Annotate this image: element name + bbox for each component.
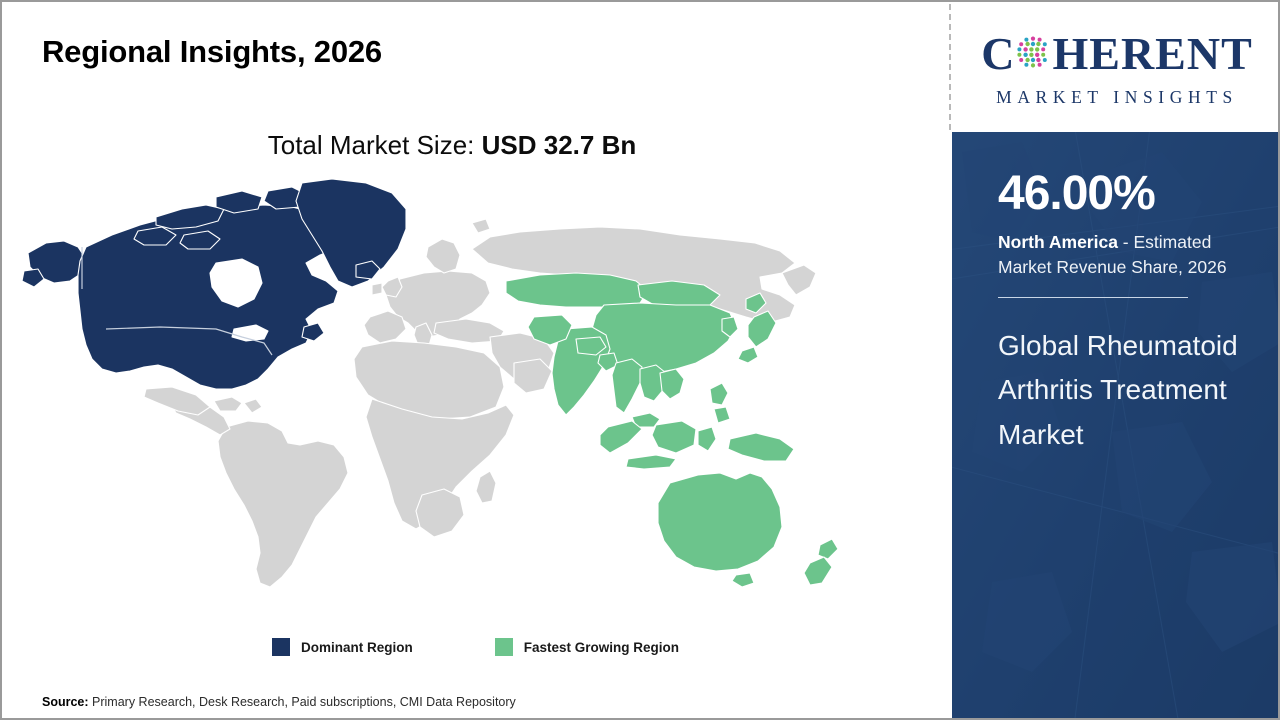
vertical-dashed-divider [949, 4, 951, 130]
logo-letters-herent: HERENT [1052, 31, 1252, 77]
map-region-north-america [22, 179, 406, 389]
total-market-size: Total Market Size: USD 32.7 Bn [2, 130, 902, 161]
total-market-size-label: Total Market Size: [268, 130, 475, 160]
legend-swatch-dominant [272, 638, 290, 656]
world-map [20, 177, 920, 617]
stat-percentage: 46.00% [998, 170, 1248, 218]
regional-insights-infographic: Regional Insights, 2026 Total Market Siz… [0, 0, 1280, 720]
logo-dot-sphere-icon [1015, 34, 1051, 70]
logo-subtitle: MARKET INSIGHTS [996, 87, 1238, 108]
logo-letter-c: C [981, 31, 1015, 77]
map-legend: Dominant Region Fastest Growing Region [2, 638, 949, 656]
source-note: Source: Primary Research, Desk Research,… [42, 695, 516, 709]
legend-swatch-fastest-growing [495, 638, 513, 656]
world-map-svg [20, 177, 920, 617]
page-title: Regional Insights, 2026 [42, 34, 382, 70]
legend-label-fastest-growing: Fastest Growing Region [524, 640, 679, 655]
market-title: Global Rheumatoid Arthritis Treatment Ma… [998, 324, 1248, 458]
panel-divider-rule [998, 297, 1188, 298]
stat-description: North America - Estimated Market Revenue… [998, 230, 1248, 280]
total-market-size-value: USD 32.7 Bn [482, 130, 637, 160]
left-content-panel: Regional Insights, 2026 Total Market Siz… [2, 2, 949, 720]
source-label: Source: [42, 695, 89, 709]
stat-region-name: North America [998, 232, 1118, 252]
map-region-asia-pacific [506, 273, 838, 587]
stat-panel: 46.00% North America - Estimated Market … [952, 132, 1280, 720]
legend-item-dominant: Dominant Region [272, 638, 413, 656]
legend-label-dominant: Dominant Region [301, 640, 413, 655]
source-value: Primary Research, Desk Research, Paid su… [92, 695, 516, 709]
stat-panel-content: 46.00% North America - Estimated Market … [952, 132, 1280, 458]
legend-item-fastest-growing: Fastest Growing Region [495, 638, 679, 656]
brand-logo: C [952, 2, 1280, 132]
logo-wordmark: C [981, 27, 1253, 81]
